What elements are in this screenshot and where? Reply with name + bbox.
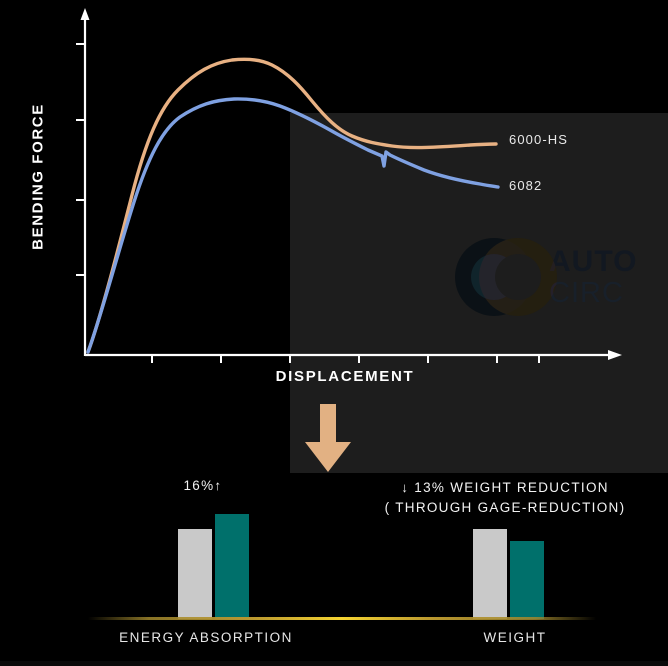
annotation-weight-line-1: ↓ 13% WEIGHT REDUCTION xyxy=(355,478,655,498)
series-line-6000hs xyxy=(88,59,496,352)
comparison-bar-chart: 16%↑ ↓ 13% WEIGHT REDUCTION ( THROUGH GA… xyxy=(0,470,668,666)
slide-canvas: AUTO CIRC xyxy=(0,0,668,666)
bending-force-line-chart: BENDING FORCE DISPLACEMENT 6000-HS 6082 xyxy=(0,0,668,400)
series-label-6082: 6082 xyxy=(509,178,542,193)
category-label-energy-absorption: ENERGY ABSORPTION xyxy=(98,630,314,645)
category-label-weight: WEIGHT xyxy=(420,630,610,645)
x-axis xyxy=(85,350,622,363)
bar-energy-teal xyxy=(215,514,249,619)
bottom-edge-strip xyxy=(0,661,668,666)
x-axis-title: DISPLACEMENT xyxy=(170,368,520,385)
y-axis-title: BENDING FORCE xyxy=(30,77,47,277)
downward-arrow-icon xyxy=(303,404,353,474)
bar-chart-baseline xyxy=(88,617,596,620)
bar-weight-teal xyxy=(510,541,544,619)
series-label-6000hs: 6000-HS xyxy=(509,132,568,147)
bar-energy-grey xyxy=(178,529,212,619)
y-axis xyxy=(76,8,90,356)
line-chart-svg xyxy=(0,0,668,400)
annotation-energy-absorption: 16%↑ xyxy=(148,478,258,493)
bar-weight-grey xyxy=(473,529,507,619)
bars-area xyxy=(0,506,668,619)
